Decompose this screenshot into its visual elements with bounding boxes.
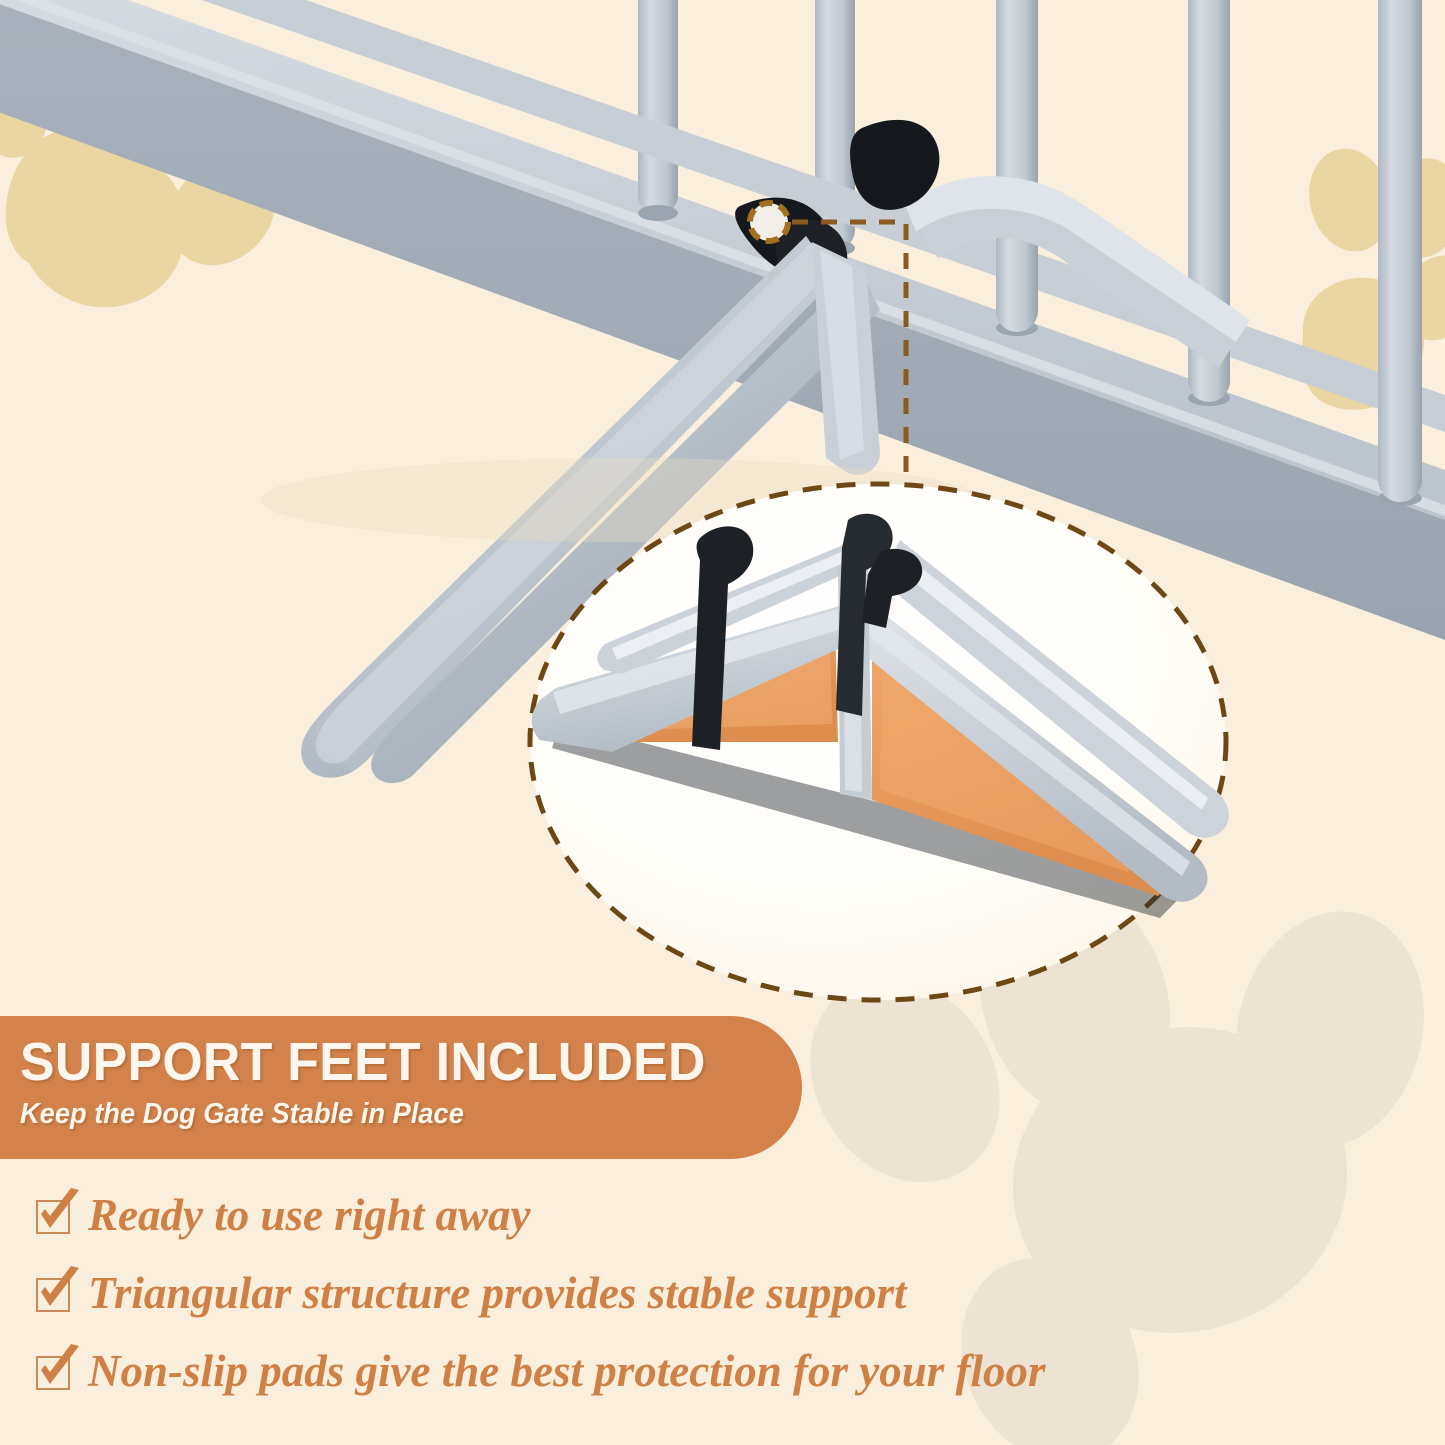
feature-banner: SUPPORT FEET INCLUDED Keep the Dog Gate …	[0, 1016, 802, 1159]
checkbox-checked-icon	[34, 1194, 74, 1234]
checkbox-checked-icon	[34, 1350, 74, 1390]
list-item-label: Ready to use right away	[88, 1186, 531, 1244]
list-item: Ready to use right away	[34, 1186, 1414, 1264]
callout-marker-circle	[750, 203, 788, 241]
feature-list: Ready to use right away Triangular struc…	[34, 1186, 1414, 1420]
checkbox-checked-icon	[34, 1272, 74, 1312]
banner-subtitle: Keep the Dog Gate Stable in Place	[20, 1094, 755, 1134]
list-item-label: Non-slip pads give the best protection f…	[88, 1342, 1045, 1400]
product-feature-image: SUPPORT FEET INCLUDED Keep the Dog Gate …	[0, 0, 1445, 1445]
support-foot-detail	[530, 484, 1229, 1000]
list-item-label: Triangular structure provides stable sup…	[88, 1264, 906, 1322]
list-item: Non-slip pads give the best protection f…	[34, 1342, 1414, 1420]
list-item: Triangular structure provides stable sup…	[34, 1264, 1414, 1342]
gate-vertical-bar	[638, 0, 678, 221]
banner-title: SUPPORT FEET INCLUDED	[20, 1032, 771, 1092]
